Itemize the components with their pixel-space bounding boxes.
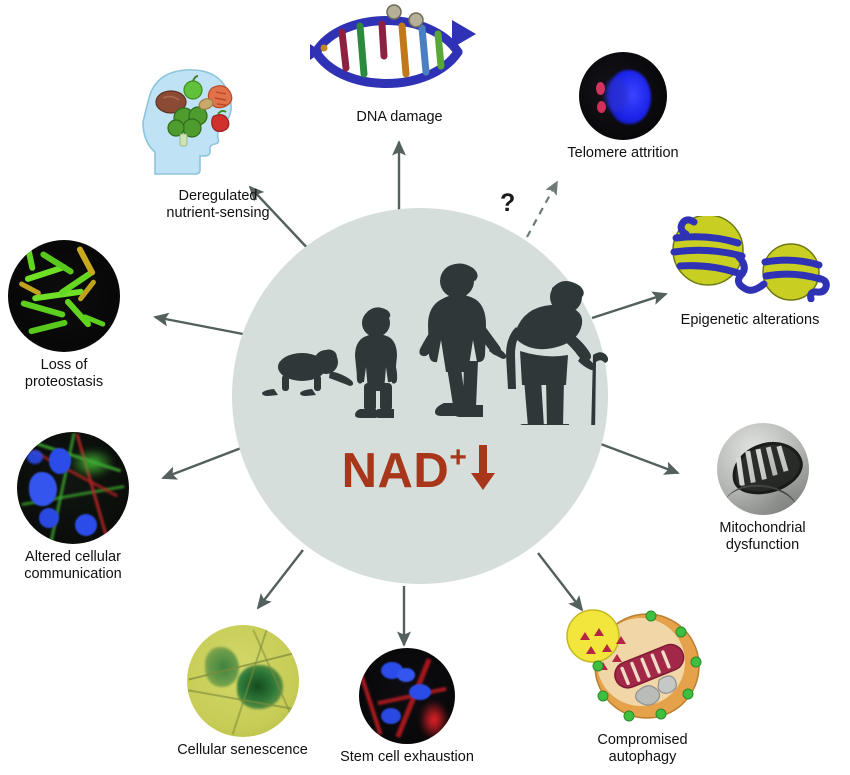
- head-with-food-icon: [118, 66, 258, 178]
- node-label: Altered cellular communication: [0, 549, 146, 583]
- arrow-to-mitochondrial-dysfunction: [598, 443, 678, 473]
- node-loss-of-proteostasis[interactable]: Loss of proteostasis: [0, 240, 128, 391]
- node-label: DNA damage: [302, 109, 497, 126]
- stem-cell-micrograph-icon: [359, 648, 455, 744]
- senescent-cells-micrograph-icon: [187, 625, 299, 737]
- question-mark-annotation: ?: [500, 191, 515, 216]
- arrow-to-telomere-attrition: [527, 182, 557, 237]
- arrow-to-cellular-senescence: [258, 550, 303, 608]
- node-label: Mitochondrial dysfunction: [690, 520, 835, 554]
- node-epigenetic-alterations[interactable]: Epigenetic alterations: [650, 216, 850, 329]
- aging-hallmarks-diagram: NAD+ DNA damage: [0, 0, 850, 775]
- autophagosome-icon: [555, 604, 705, 722]
- node-label: Epigenetic alterations: [650, 312, 850, 329]
- down-arrow-icon: [468, 445, 498, 491]
- dna-double-helix-icon: [302, 4, 487, 99]
- protein-aggregate-micrograph-icon: [8, 240, 120, 352]
- nucleosome-icon: [650, 216, 842, 302]
- node-label: Deregulated nutrient-sensing: [118, 188, 318, 222]
- arrow-to-loss-of-proteostasis: [155, 317, 243, 334]
- node-label: Compromised autophagy: [555, 732, 730, 766]
- nad-text: NAD: [342, 444, 450, 498]
- node-label: Loss of proteostasis: [0, 357, 128, 391]
- cell-network-micrograph-icon: [17, 432, 129, 544]
- nad-superscript: +: [449, 441, 467, 474]
- telomere-micrograph-icon: [579, 52, 667, 140]
- node-label: Telomere attrition: [533, 145, 713, 162]
- node-compromised-autophagy[interactable]: Compromised autophagy: [555, 604, 730, 766]
- node-label: Cellular senescence: [150, 742, 335, 759]
- aging-silhouettes: [232, 255, 608, 425]
- node-cellular-senescence[interactable]: Cellular senescence: [150, 625, 335, 759]
- node-dna-damage[interactable]: DNA damage: [302, 4, 497, 126]
- node-stem-cell-exhaustion[interactable]: Stem cell exhaustion: [322, 648, 492, 766]
- node-altered-cellular-communication[interactable]: Altered cellular communication: [0, 432, 146, 583]
- node-deregulated-nutrient-sensing[interactable]: Deregulated nutrient-sensing: [118, 66, 318, 222]
- node-telomere-attrition[interactable]: Telomere attrition: [533, 52, 713, 162]
- arrow-to-compromised-autophagy: [538, 553, 582, 610]
- mitochondrion-em-icon: [717, 423, 809, 515]
- nad-decline-label: NAD+: [232, 425, 608, 495]
- node-label: Stem cell exhaustion: [322, 749, 492, 766]
- node-mitochondrial-dysfunction[interactable]: Mitochondrial dysfunction: [690, 423, 835, 554]
